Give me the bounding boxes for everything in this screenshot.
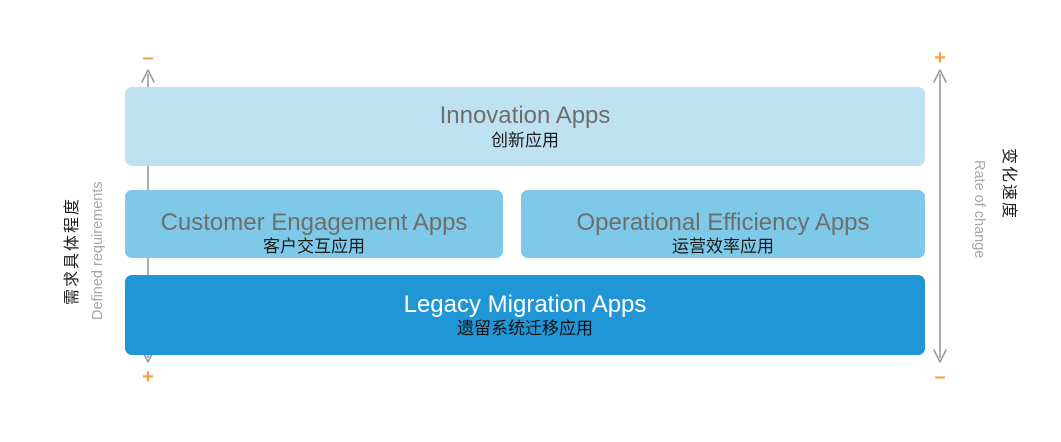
box-innovation-apps-title: Innovation Apps: [440, 103, 611, 128]
right-axis-group: + Rate of change 变化速度 –: [925, 0, 1045, 442]
box-customer-engagement-apps[interactable]: Customer Engagement Apps 客户交互应用: [125, 190, 503, 258]
box-operational-efficiency-apps-title: Operational Efficiency Apps: [576, 210, 869, 235]
right-axis-label-en: Rate of change: [970, 160, 987, 258]
box-customer-engagement-apps-title: Customer Engagement Apps: [161, 210, 468, 235]
box-operational-efficiency-apps[interactable]: Operational Efficiency Apps 运营效率应用: [521, 190, 925, 258]
right-axis-bottom-sign: –: [930, 367, 950, 387]
diagram-canvas: – 需求具体程度 Defined requirements + + Rate o…: [0, 0, 1061, 442]
left-axis-label-en: Defined requirements: [90, 181, 107, 320]
right-axis-double-arrow-icon: [929, 66, 951, 366]
box-legacy-migration-apps[interactable]: Legacy Migration Apps 遗留系统迁移应用: [125, 275, 925, 355]
left-axis-top-sign: –: [138, 48, 158, 68]
box-innovation-apps-subtitle: 创新应用: [491, 132, 559, 150]
box-operational-efficiency-apps-subtitle: 运营效率应用: [672, 238, 774, 256]
box-innovation-apps[interactable]: Innovation Apps 创新应用: [125, 87, 925, 166]
left-axis-label-cn: 需求具体程度: [64, 197, 82, 305]
right-axis-top-sign: +: [930, 48, 950, 68]
left-axis-bottom-sign: +: [138, 367, 158, 387]
box-customer-engagement-apps-subtitle: 客户交互应用: [263, 238, 365, 256]
box-legacy-migration-apps-title: Legacy Migration Apps: [404, 292, 647, 317]
right-axis-label-cn: 变化速度: [999, 148, 1017, 220]
box-legacy-migration-apps-subtitle: 遗留系统迁移应用: [457, 320, 593, 338]
